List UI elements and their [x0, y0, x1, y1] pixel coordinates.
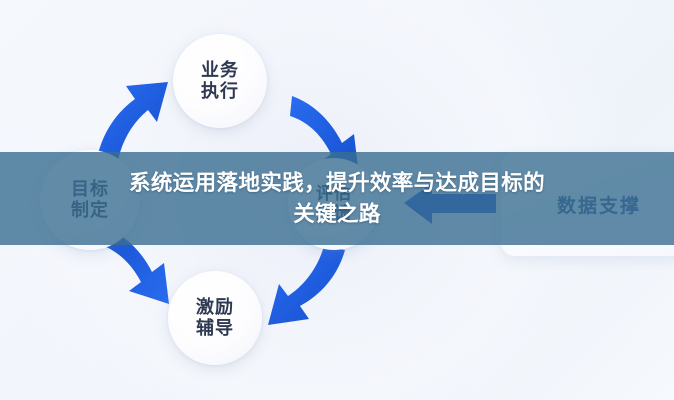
title-banner: 系统运用落地实践，提升效率与达成目标的 关键之路: [0, 152, 674, 245]
curved-arrow-icon: [268, 246, 345, 325]
cycle-node-label-line2: 执行: [201, 81, 239, 102]
page-title-line2: 关键之路: [293, 202, 381, 226]
cycle-node-business-execution[interactable]: 业务 执行: [173, 34, 267, 128]
cycle-node-label-line2: 辅导: [196, 318, 234, 339]
page-title-line1: 系统运用落地实践，提升效率与达成目标的: [129, 171, 545, 195]
cycle-node-label-line1: 业务: [201, 60, 239, 81]
infographic-canvas: 业务 执行 评估 反馈 激励 辅导 目标 制定 数据支撑 系统运用落地实践，提升…: [0, 0, 674, 400]
cycle-node-label-line1: 激励: [196, 297, 234, 318]
cycle-node-incentive-coaching[interactable]: 激励 辅导: [168, 271, 262, 365]
page-title: 系统运用落地实践，提升效率与达成目标的 关键之路: [129, 168, 545, 229]
